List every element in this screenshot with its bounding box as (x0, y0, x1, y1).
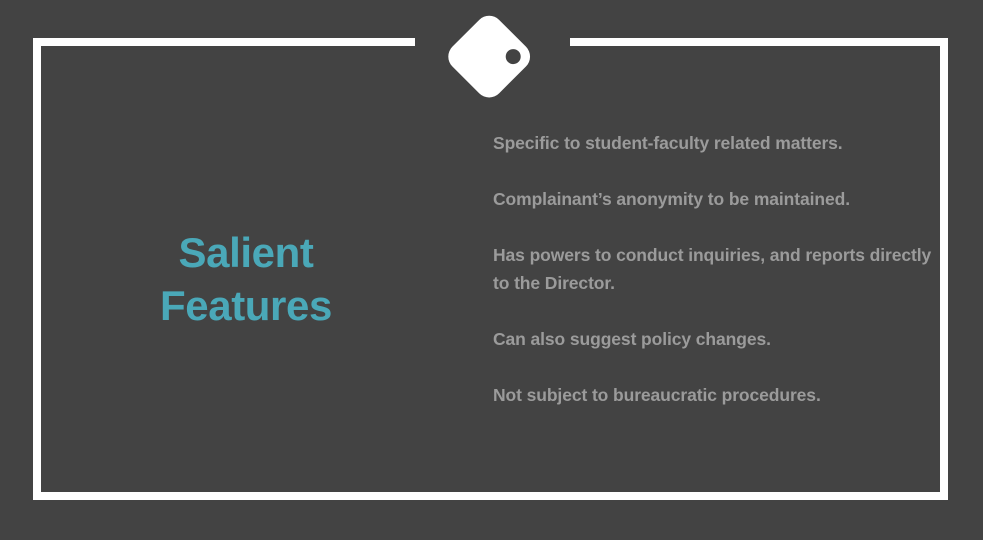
list-item: Has powers to conduct inquiries, and rep… (493, 241, 933, 297)
page-title: Salient Features (41, 226, 451, 332)
frame-border-bottom (33, 492, 948, 500)
list-item: Not subject to bureaucratic procedures. (493, 381, 933, 409)
list-item: Specific to student-faculty related matt… (493, 129, 933, 157)
page-title-line-2: Features (41, 279, 451, 332)
frame-border-top-right (570, 38, 948, 46)
list-item: Complainant’s anonymity to be maintained… (493, 185, 933, 213)
list-item: Can also suggest policy changes. (493, 325, 933, 353)
slide-canvas: Salient Features Specific to student-fac… (0, 0, 983, 540)
frame-border-top-left (33, 38, 415, 46)
page-title-line-1: Salient (41, 226, 451, 279)
feature-list: Specific to student-faculty related matt… (493, 129, 933, 409)
slide-content: Salient Features Specific to student-fac… (41, 46, 940, 492)
frame-border-left (33, 38, 41, 500)
frame-border-right (940, 38, 948, 500)
